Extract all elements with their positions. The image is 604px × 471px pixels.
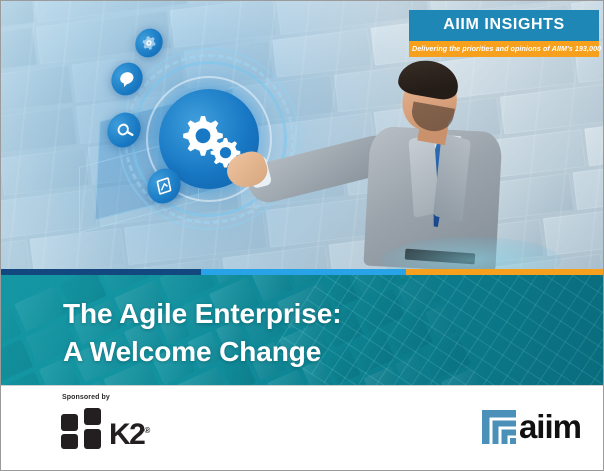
k2-logo-mark [61,408,103,448]
k2-square-2 [84,408,101,425]
k2-square-4 [84,429,101,449]
aiim-wordmark: aiim [519,410,581,443]
aiim-insights-banner: AIIM INSIGHTS Delivering the priorities … [409,10,599,57]
aiim-logo-mark [482,410,516,444]
k2-registered-mark: ® [144,426,148,435]
k2-wordmark-text: K2 [109,418,144,451]
hero-image: AIIM INSIGHTS Delivering the priorities … [1,1,604,269]
k2-square-3 [61,434,78,449]
aiim-insights-title: AIIM INSIGHTS [409,10,599,41]
footer: Sponsored by K2® aiim [1,385,604,471]
aiim-logo: aiim [482,410,581,444]
k2-square-1 [61,414,78,431]
k2-logo: K2® [61,408,149,448]
page-title: The Agile Enterprise: A Welcome Change [63,295,341,371]
report-cover-page: AIIM INSIGHTS Delivering the priorities … [0,0,604,471]
businessman-figure [319,53,551,269]
sponsored-by-label: Sponsored by [62,394,110,401]
k2-wordmark: K2® [109,420,149,450]
aiim-insights-subtitle: Delivering the priorities and opinions o… [409,41,599,57]
title-band: The Agile Enterprise: A Welcome Change [1,275,604,385]
